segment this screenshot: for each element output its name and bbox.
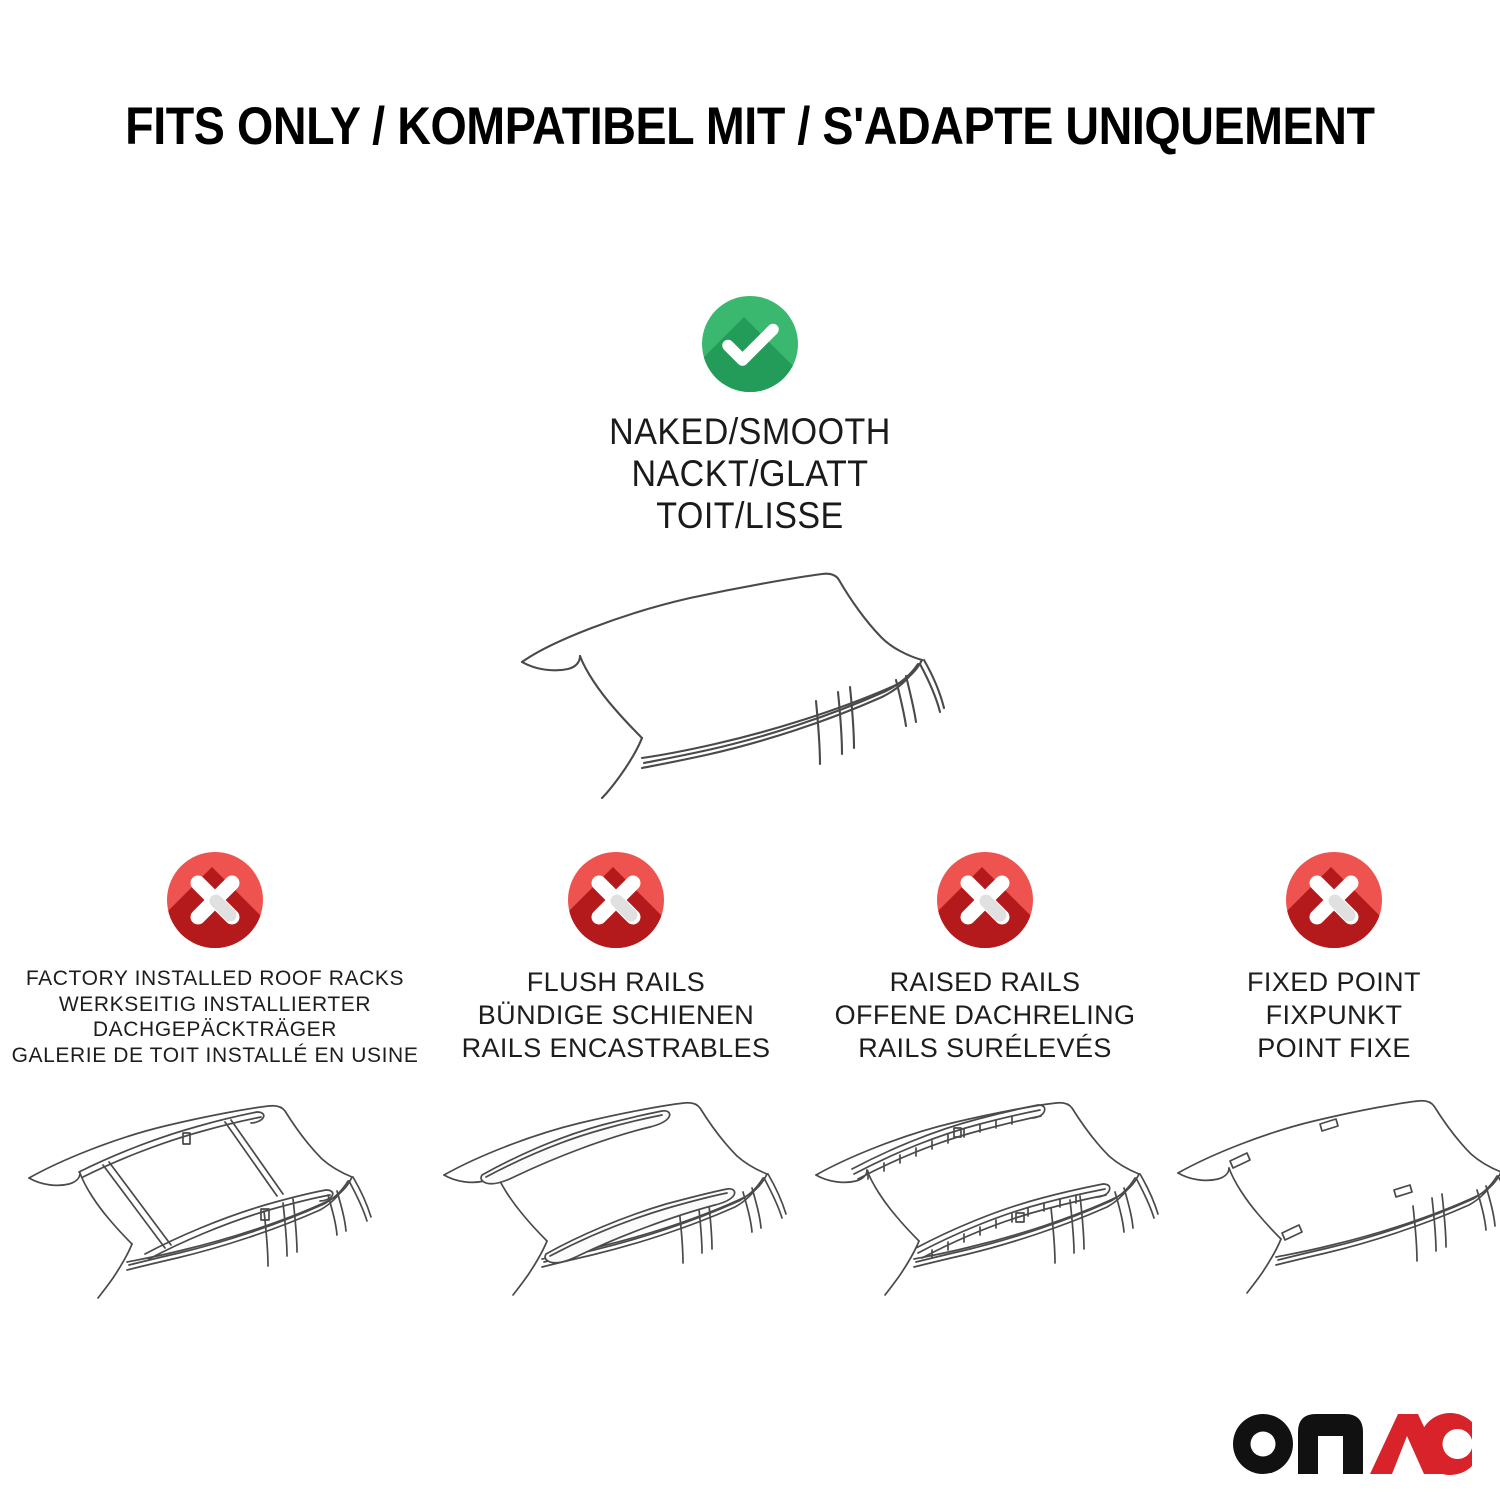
incompatible-item-flush-rails: FLUSH RAILS BÜNDIGE SCHIENEN RAILS ENCAS… (430, 852, 802, 1308)
compatible-label: NAKED/SMOOTH NACKT/GLATT TOIT/LISSE (60, 411, 1440, 538)
cross-circle-icon (167, 852, 263, 948)
incompatible-label-2-line-2: BÜNDIGE SCHIENEN (430, 999, 802, 1032)
car-roof-fixed-point-illustration (1168, 1075, 1500, 1305)
incompatible-item-factory-roof-racks: FACTORY INSTALLED ROOF RACKS WERKSEITIG … (0, 852, 430, 1308)
cross-icon-wrap-3 (802, 852, 1168, 952)
incompatible-label-2: FLUSH RAILS BÜNDIGE SCHIENEN RAILS ENCAS… (430, 966, 802, 1065)
incompatible-label-1-line-2: WERKSEITIG INSTALLIERTER (0, 992, 430, 1018)
incompatible-label-1: FACTORY INSTALLED ROOF RACKS WERKSEITIG … (0, 966, 430, 1068)
compatible-label-line-3: TOIT/LISSE (60, 495, 1440, 537)
incompatible-label-2-line-1: FLUSH RAILS (430, 966, 802, 999)
incompatible-label-4: FIXED POINT FIXPUNKT POINT FIXE (1168, 966, 1500, 1065)
incompatible-section: FACTORY INSTALLED ROOF RACKS WERKSEITIG … (0, 852, 1500, 1308)
check-circle-icon (702, 296, 798, 392)
incompatible-label-3: RAISED RAILS OFFENE DACHRELING RAILS SUR… (802, 966, 1168, 1065)
compatible-section: NAKED/SMOOTH NACKT/GLATT TOIT/LISSE (0, 296, 1500, 802)
logo-letter-m (1298, 1414, 1363, 1474)
page-title: FITS ONLY / KOMPATIBEL MIT / S'ADAPTE UN… (125, 96, 1374, 157)
car-roof-factory-roof-racks-illustration (0, 1078, 430, 1308)
car-roof-flush-rails-illustration (430, 1075, 802, 1305)
incompatible-label-1-line-1: FACTORY INSTALLED ROOF RACKS (0, 966, 430, 992)
incompatible-label-4-line-1: FIXED POINT (1168, 966, 1500, 999)
cross-circle-icon (568, 852, 664, 948)
incompatible-label-3-line-3: RAILS SURÉLEVÉS (802, 1032, 1168, 1065)
incompatible-label-4-line-2: FIXPUNKT (1168, 999, 1500, 1032)
cross-icon-wrap-4 (1168, 852, 1500, 952)
compatible-label-line-2: NACKT/GLATT (60, 453, 1440, 495)
cross-icon-wrap-2 (430, 852, 802, 952)
incompatible-item-fixed-point: FIXED POINT FIXPUNKT POINT FIXE (1168, 852, 1500, 1308)
cross-circle-icon (1286, 852, 1382, 948)
car-roof-naked-smooth-illustration (0, 552, 1500, 802)
omac-logo (1232, 1410, 1472, 1476)
incompatible-label-4-line-3: POINT FIXE (1168, 1032, 1500, 1065)
car-roof-raised-rails-illustration (802, 1075, 1168, 1305)
cross-circle-icon (937, 852, 1033, 948)
incompatible-label-1-line-4: GALERIE DE TOIT INSTALLÉ EN USINE (0, 1043, 430, 1069)
incompatible-item-raised-rails: RAISED RAILS OFFENE DACHRELING RAILS SUR… (802, 852, 1168, 1308)
incompatible-label-3-line-2: OFFENE DACHRELING (802, 999, 1168, 1032)
page-title-bar: FITS ONLY / KOMPATIBEL MIT / S'ADAPTE UN… (0, 96, 1500, 157)
compatible-label-line-1: NAKED/SMOOTH (60, 411, 1440, 453)
incompatible-label-3-line-1: RAISED RAILS (802, 966, 1168, 999)
incompatible-label-2-line-3: RAILS ENCASTRABLES (430, 1032, 802, 1065)
logo-letter-o (1233, 1414, 1293, 1474)
incompatible-label-1-line-3: DACHGEPÄCKTRÄGER (0, 1017, 430, 1043)
cross-icon-wrap-1 (0, 852, 430, 952)
